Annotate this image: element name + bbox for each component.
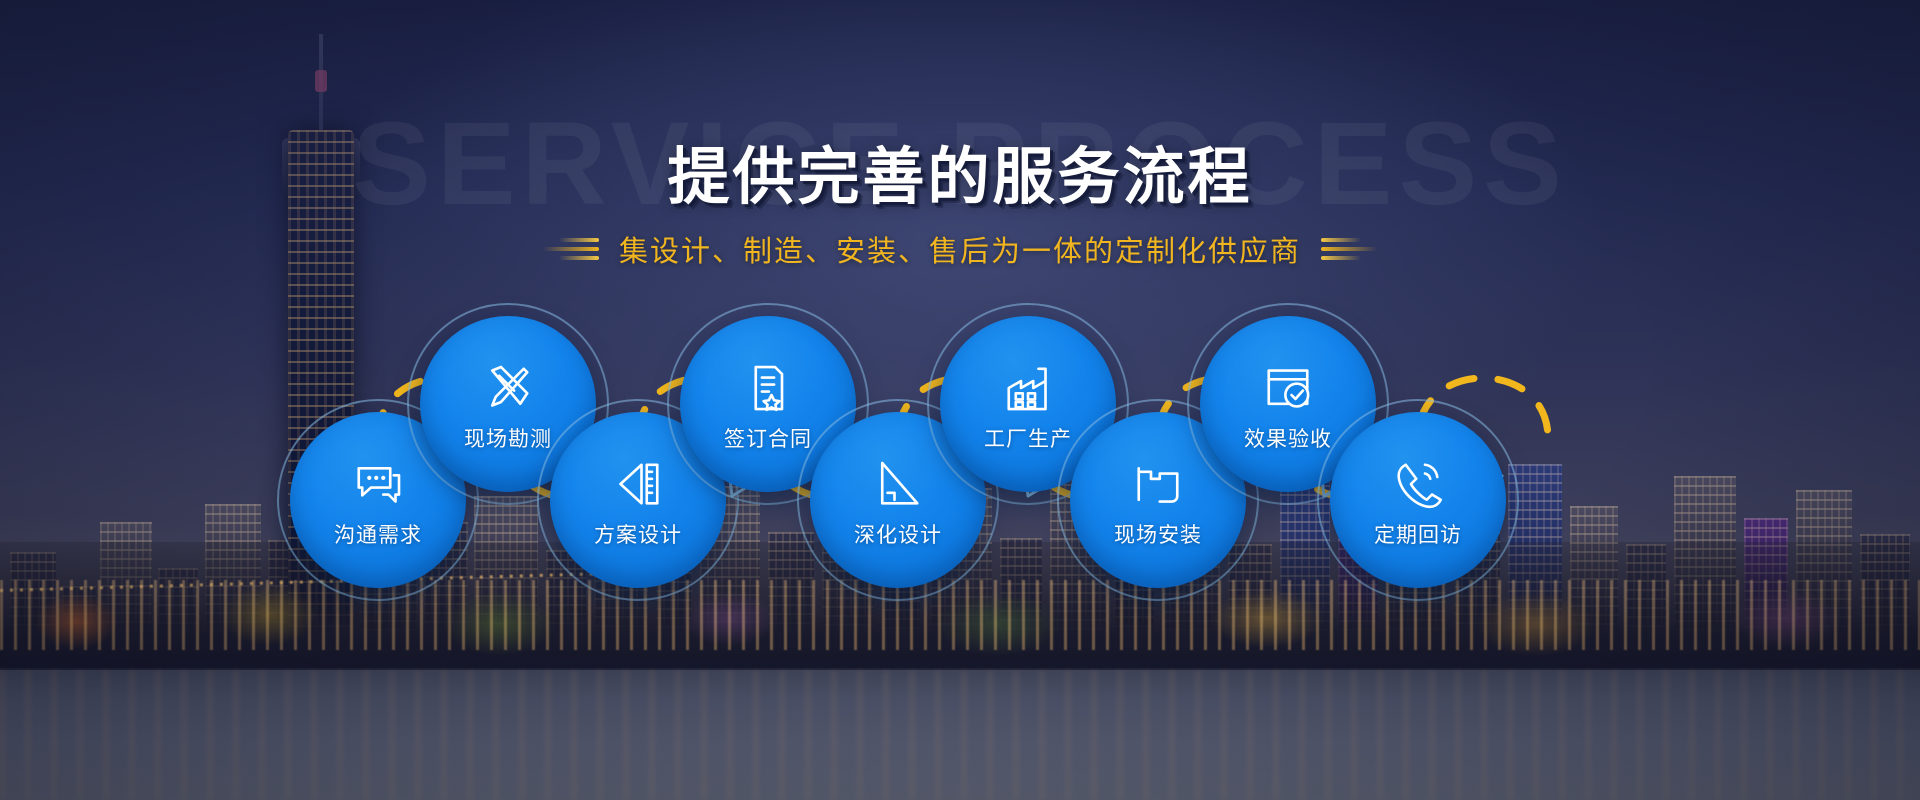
contract-seal-icon — [740, 360, 796, 416]
step-label: 效果验收 — [1244, 423, 1332, 453]
factory-icon — [1000, 360, 1056, 416]
subtitle-row: 集设计、制造、安装、售后为一体的定制化供应商 — [0, 228, 1920, 270]
step-disc[interactable]: 定期回访 — [1330, 412, 1506, 588]
installation-tool-icon — [1130, 456, 1186, 512]
step-label: 签订合同 — [724, 423, 812, 453]
step-label: 工厂生产 — [984, 423, 1072, 453]
process-step-9[interactable]: 定期回访 — [1330, 412, 1506, 588]
step-label: 定期回访 — [1374, 519, 1462, 549]
water-reflections — [0, 670, 1920, 800]
step-label: 方案设计 — [594, 519, 682, 549]
ornament-right-icon — [1321, 238, 1377, 260]
phone-call-icon — [1390, 456, 1446, 512]
step-label: 沟通需求 — [334, 519, 422, 549]
page-subtitle: 集设计、制造、安装、售后为一体的定制化供应商 — [619, 228, 1301, 270]
step-label: 现场勘测 — [464, 423, 552, 453]
step-label: 现场安装 — [1114, 519, 1202, 549]
step-label: 深化设计 — [854, 519, 942, 549]
set-square-icon — [870, 456, 926, 512]
chat-bubble-icon — [350, 456, 406, 512]
process-flow: 沟通需求 现场勘测 — [0, 300, 1920, 630]
ornament-left-icon — [543, 238, 599, 260]
page-title: 提供完善的服务流程 — [0, 126, 1920, 216]
ruler-pencil-icon — [480, 360, 536, 416]
service-process-banner: SERVICE PROCESS 提供完善的服务流程 集设计、制造、安装、售后为一… — [0, 0, 1920, 800]
window-check-icon — [1260, 360, 1316, 416]
blueprint-ruler-icon — [610, 456, 666, 512]
